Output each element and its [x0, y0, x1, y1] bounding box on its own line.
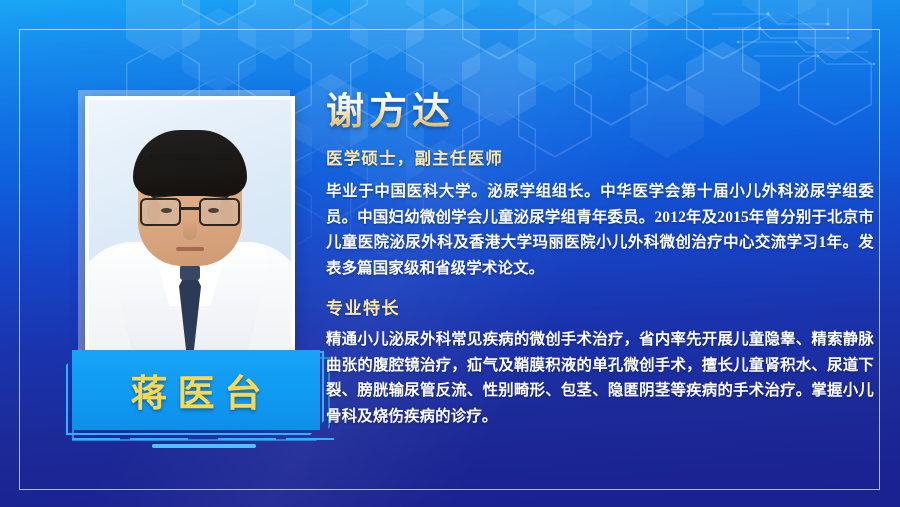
doctor-specialty: 精通小儿泌尿外科常见疾病的微创手术治疗，省内率先开展儿童隐睾、精索静脉曲张的腹腔… — [326, 327, 874, 429]
portrait-image — [89, 100, 291, 350]
glasses-icon — [140, 198, 240, 228]
doctor-profile-card: 蒋医台 谢方达 医学硕士，副主任医师 毕业于中国医科大学。泌尿学组组长。中华医学… — [0, 0, 900, 507]
doctor-bio: 毕业于中国医科大学。泌尿学组组长。中华医学会第十届小儿外科泌尿学组委员。中国妇幼… — [326, 179, 874, 281]
profile-content: 谢方达 医学硕士，副主任医师 毕业于中国医科大学。泌尿学组组长。中华医学会第十届… — [326, 92, 874, 430]
specialty-heading: 专业特长 — [326, 294, 874, 319]
name-badge: 蒋医台 — [58, 345, 336, 453]
circuit-decoration — [708, 4, 878, 74]
doctor-title: 医学硕士，副主任医师 — [326, 145, 874, 169]
badge-decoration-lines — [68, 437, 338, 451]
doctor-name: 谢方达 — [326, 92, 874, 133]
badge-plate: 蒋医台 — [72, 350, 320, 430]
portrait-photo — [85, 96, 295, 354]
badge-label: 蒋医台 — [121, 363, 272, 417]
